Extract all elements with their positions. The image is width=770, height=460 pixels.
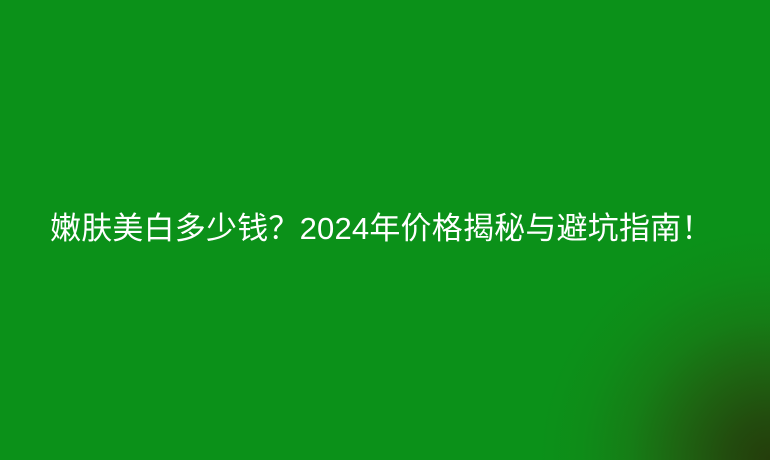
article-cover-banner: 嫩肤美白多少钱？2024年价格揭秘与避坑指南！ [0, 0, 770, 460]
banner-content: 嫩肤美白多少钱？2024年价格揭秘与避坑指南！ [0, 0, 770, 460]
banner-headline: 嫩肤美白多少钱？2024年价格揭秘与避坑指南！ [50, 208, 713, 250]
